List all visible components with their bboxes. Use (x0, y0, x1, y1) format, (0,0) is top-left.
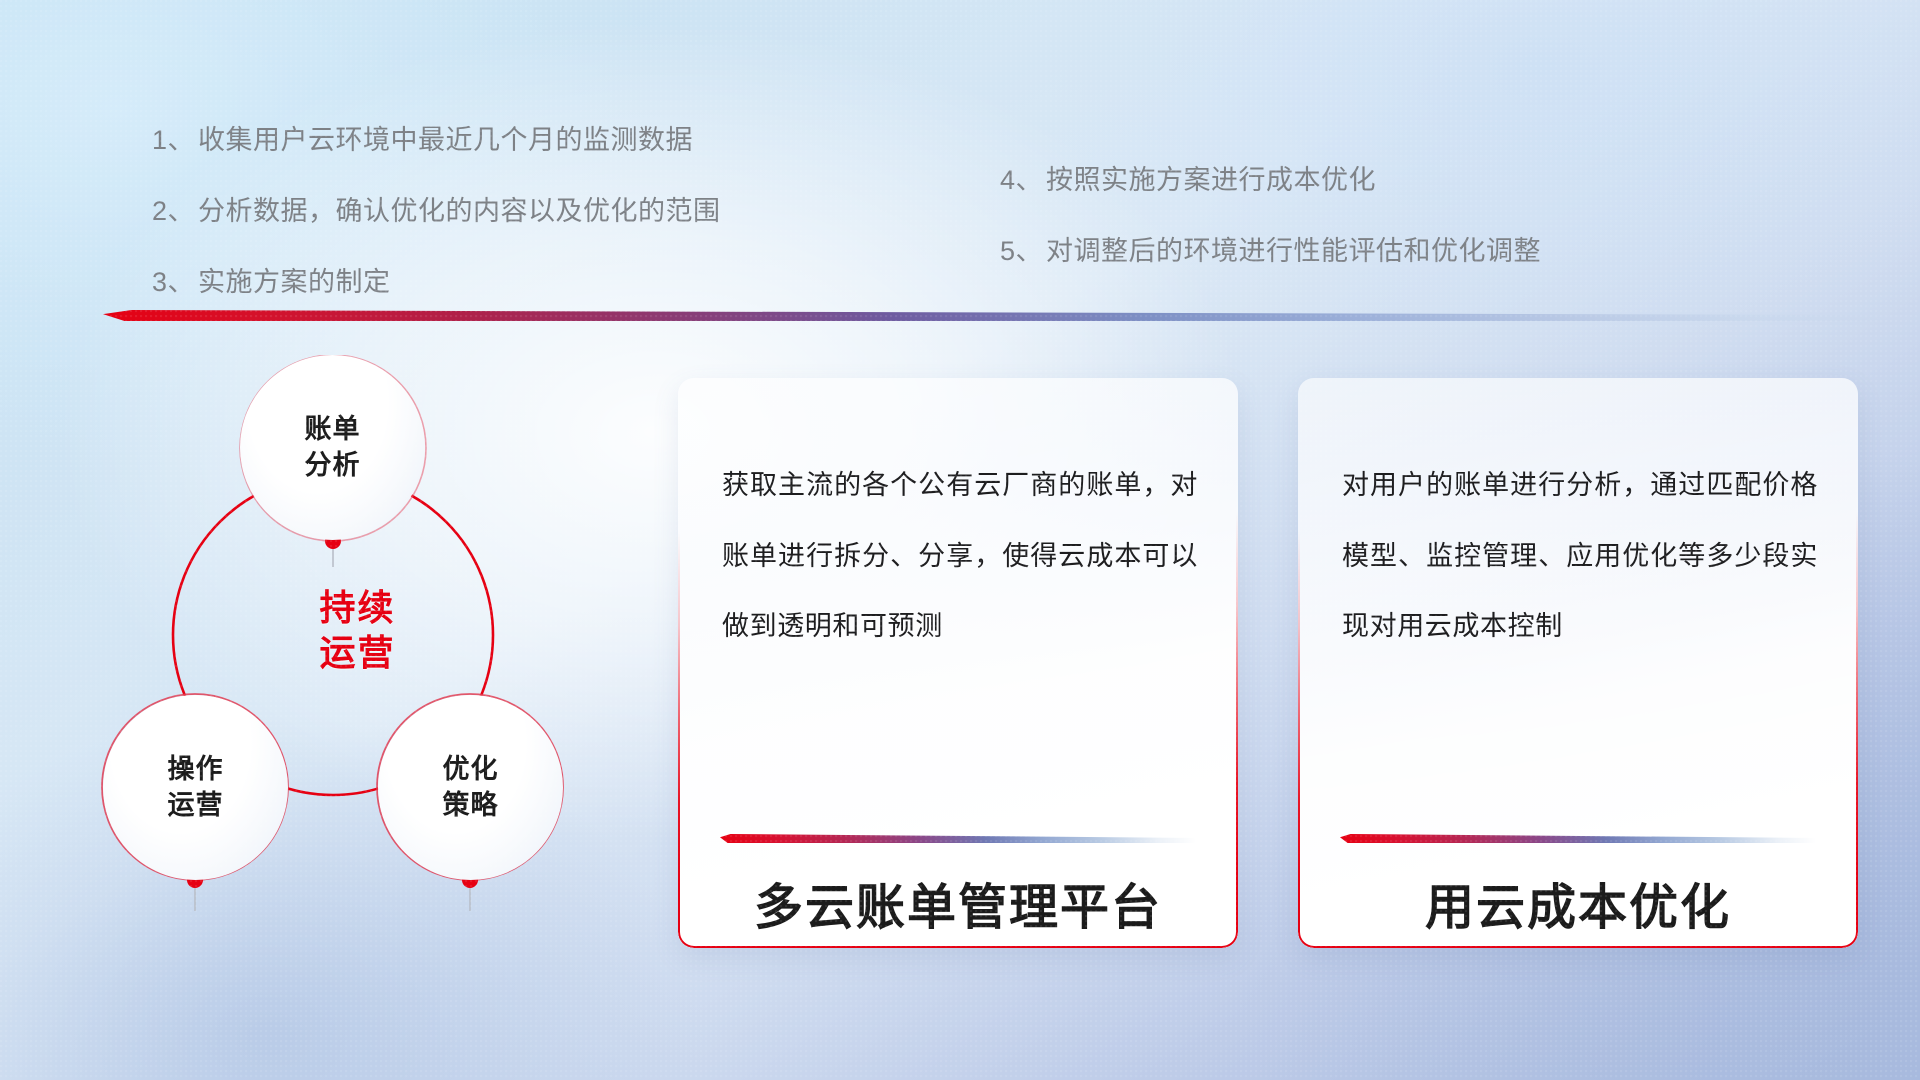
card-body-text: 获取主流的各个公有云厂商的账单，对账单进行拆分、分享，使得云成本可以做到透明和可… (722, 450, 1198, 662)
step-item: 2、 分析数据，确认优化的内容以及优化的范围 (152, 189, 721, 228)
step-number: 5、 (1000, 229, 1046, 268)
lobe-label-line1: 优化 (443, 752, 499, 787)
card-divider-bar (720, 834, 1196, 843)
steps-list-right: 4、 按照实施方案进行成本优化 5、 对调整后的环境进行性能评估和优化调整 (1000, 158, 1541, 268)
step-number: 1、 (152, 118, 198, 157)
card-divider (720, 834, 1196, 843)
lobe-label-line2: 运营 (168, 788, 224, 823)
step-number: 4、 (1000, 158, 1046, 197)
step-text: 按照实施方案进行成本优化 (1046, 158, 1376, 197)
step-number: 2、 (152, 189, 198, 228)
step-item: 3、 实施方案的制定 (152, 260, 721, 299)
card-title: 用云成本优化 (1298, 868, 1858, 939)
diagram-lobe-bill-analysis[interactable]: 账单 分析 (240, 355, 425, 540)
card-divider (1340, 834, 1816, 843)
step-item: 4、 按照实施方案进行成本优化 (1000, 158, 1541, 197)
header-divider (103, 310, 1893, 321)
diagram-lobe-optimization-strategy[interactable]: 优化 策略 (378, 695, 563, 880)
step-text: 对调整后的环境进行性能评估和优化调整 (1046, 229, 1541, 268)
step-text: 收集用户云环境中最近几个月的监测数据 (198, 118, 693, 157)
step-item: 5、 对调整后的环境进行性能评估和优化调整 (1000, 229, 1541, 268)
lobe-label-line1: 操作 (168, 752, 224, 787)
diagram-lobe-operations[interactable]: 操作 运营 (103, 695, 288, 880)
cycle-diagram: 账单 分析 操作 运营 优化 策略 持续 运营 (95, 355, 655, 955)
lobe-label-line1: 账单 (305, 412, 361, 447)
center-label-line2: 运营 (275, 630, 440, 675)
card-body-text: 对用户的账单进行分析，通过匹配价格模型、监控管理、应用优化等多少段实现对用云成本… (1342, 450, 1818, 662)
step-text: 分析数据，确认优化的内容以及优化的范围 (198, 189, 721, 228)
diagram-center-label: 持续 运营 (275, 585, 440, 675)
lobe-label-line2: 分析 (305, 448, 361, 483)
feature-card-multicloud-billing[interactable]: 获取主流的各个公有云厂商的账单，对账单进行拆分、分享，使得云成本可以做到透明和可… (678, 378, 1238, 948)
step-text: 实施方案的制定 (198, 260, 391, 299)
center-label-line1: 持续 (275, 585, 440, 630)
card-divider-bar (1340, 834, 1816, 843)
header-divider-bar (103, 310, 1893, 321)
lobe-label-line2: 策略 (443, 788, 499, 823)
card-title: 多云账单管理平台 (678, 868, 1238, 939)
steps-list-left: 1、 收集用户云环境中最近几个月的监测数据 2、 分析数据，确认优化的内容以及优… (152, 118, 721, 299)
step-item: 1、 收集用户云环境中最近几个月的监测数据 (152, 118, 721, 157)
feature-card-cloud-cost-optimization[interactable]: 对用户的账单进行分析，通过匹配价格模型、监控管理、应用优化等多少段实现对用云成本… (1298, 378, 1858, 948)
step-number: 3、 (152, 260, 198, 299)
slide-canvas: 1、 收集用户云环境中最近几个月的监测数据 2、 分析数据，确认优化的内容以及优… (0, 0, 1920, 1080)
